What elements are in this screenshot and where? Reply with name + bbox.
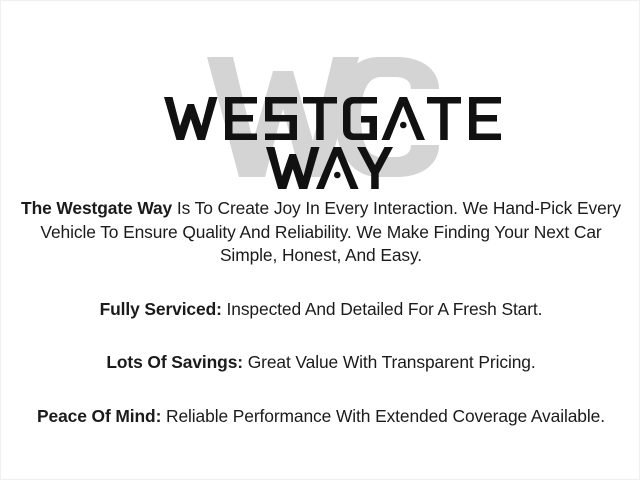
logo-artwork (1, 49, 640, 189)
marketing-copy: The Westgate Way Is To Create Joy In Eve… (11, 197, 631, 428)
benefit-text: Great Value With Transparent Pricing. (243, 352, 536, 372)
benefit-fully-serviced: Fully Serviced: Inspected And Detailed F… (11, 298, 631, 322)
benefit-label: Fully Serviced: (100, 299, 222, 319)
intro-lead: The Westgate Way (21, 198, 172, 218)
intro-paragraph: The Westgate Way Is To Create Joy In Eve… (11, 197, 631, 268)
benefit-label: Lots Of Savings: (106, 352, 243, 372)
brand-logo: WC WESTGATE WAY (1, 49, 640, 189)
benefit-label: Peace Of Mind: (37, 406, 161, 426)
benefit-peace-of-mind: Peace Of Mind: Reliable Performance With… (11, 405, 631, 429)
benefit-lots-of-savings: Lots Of Savings: Great Value With Transp… (11, 351, 631, 375)
promo-slide: WC WESTGATE WAY The Westgate Way Is To C… (0, 0, 640, 480)
benefit-text: Inspected And Detailed For A Fresh Start… (222, 299, 543, 319)
benefit-text: Reliable Performance With Extended Cover… (161, 406, 605, 426)
